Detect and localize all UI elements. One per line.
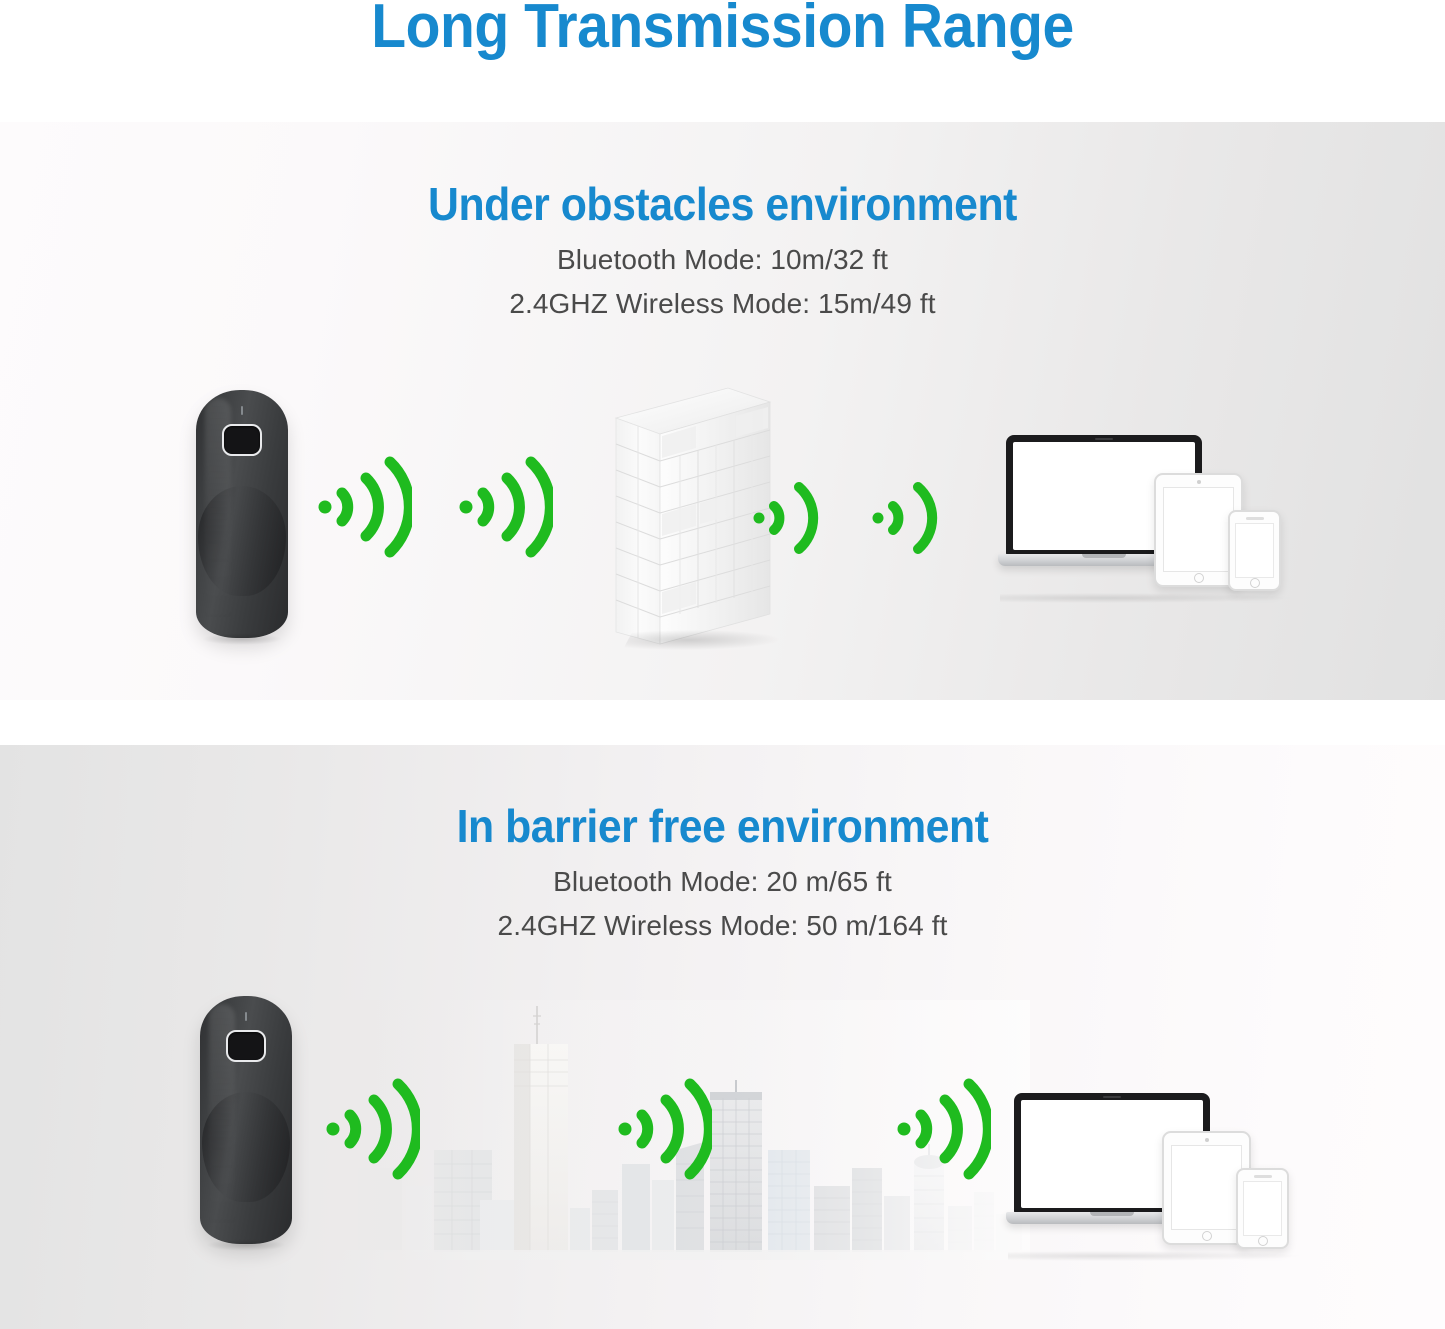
infographic-page: Long Transmission Range: [0, 0, 1445, 1329]
devices-shadow: [1008, 1251, 1300, 1261]
laptop-camera-icon: [1095, 438, 1113, 440]
section-title: In barrier free environment: [51, 802, 1395, 850]
spec-line-wireless: 2.4GHZ Wireless Mode: 15m/49 ft: [0, 282, 1445, 325]
phone-screen: [1235, 523, 1274, 578]
spec-line-bluetooth: Bluetooth Mode: 20 m/65 ft: [0, 860, 1445, 903]
barrier-free-heading-block: In barrier free environment Bluetooth Mo…: [0, 802, 1445, 947]
scanner-shadow: [202, 633, 282, 645]
section-divider: [0, 700, 1445, 745]
receiving-devices: [1014, 1085, 1304, 1255]
tablet-screen: [1163, 487, 1234, 572]
scanner-led-icon: [245, 1012, 247, 1021]
section-title: Under obstacles environment: [51, 180, 1395, 228]
barcode-scanner: [200, 996, 292, 1244]
tablet-screen: [1171, 1145, 1242, 1230]
under-obstacles-heading-block: Under obstacles environment Bluetooth Mo…: [0, 180, 1445, 325]
laptop-notch: [1090, 1212, 1134, 1216]
signal-waves-icon: [752, 479, 824, 557]
spec-line-wireless: 2.4GHZ Wireless Mode: 50 m/164 ft: [0, 904, 1445, 947]
tablet-home-button: [1202, 1231, 1212, 1241]
scanner-shadow: [206, 1239, 286, 1251]
scanner-scan-button: [226, 1030, 266, 1062]
barcode-scanner: [196, 390, 288, 638]
signal-waves-icon: [457, 454, 553, 560]
scanner-led-icon: [241, 406, 243, 415]
page-title: Long Transmission Range: [58, 0, 1387, 58]
section-spec-lines: Bluetooth Mode: 20 m/65 ft 2.4GHZ Wirele…: [0, 860, 1445, 947]
tablet-home-button: [1194, 573, 1204, 583]
signal-waves-icon: [316, 454, 412, 560]
phone-home-button: [1258, 1236, 1268, 1246]
phone-home-button: [1250, 578, 1260, 588]
tablet-camera-icon: [1205, 1138, 1209, 1142]
receiving-devices: [1006, 427, 1296, 597]
laptop-notch: [1082, 554, 1126, 558]
phone-screen: [1243, 1181, 1282, 1236]
devices-shadow: [1000, 593, 1292, 603]
phone-speaker-icon: [1254, 1175, 1272, 1178]
signal-waves-icon: [871, 479, 943, 557]
wall-shadow: [623, 630, 784, 650]
tablet-camera-icon: [1197, 480, 1201, 484]
section-spec-lines: Bluetooth Mode: 10m/32 ft 2.4GHZ Wireles…: [0, 238, 1445, 325]
signal-waves-icon: [895, 1076, 991, 1182]
signal-waves-icon: [616, 1076, 712, 1182]
laptop-camera-icon: [1103, 1096, 1121, 1098]
smartphone-icon: [1228, 510, 1281, 591]
phone-speaker-icon: [1246, 517, 1264, 520]
smartphone-icon: [1236, 1168, 1289, 1249]
spec-line-bluetooth: Bluetooth Mode: 10m/32 ft: [0, 238, 1445, 281]
signal-waves-icon: [324, 1076, 420, 1182]
scanner-scan-button: [222, 424, 262, 456]
